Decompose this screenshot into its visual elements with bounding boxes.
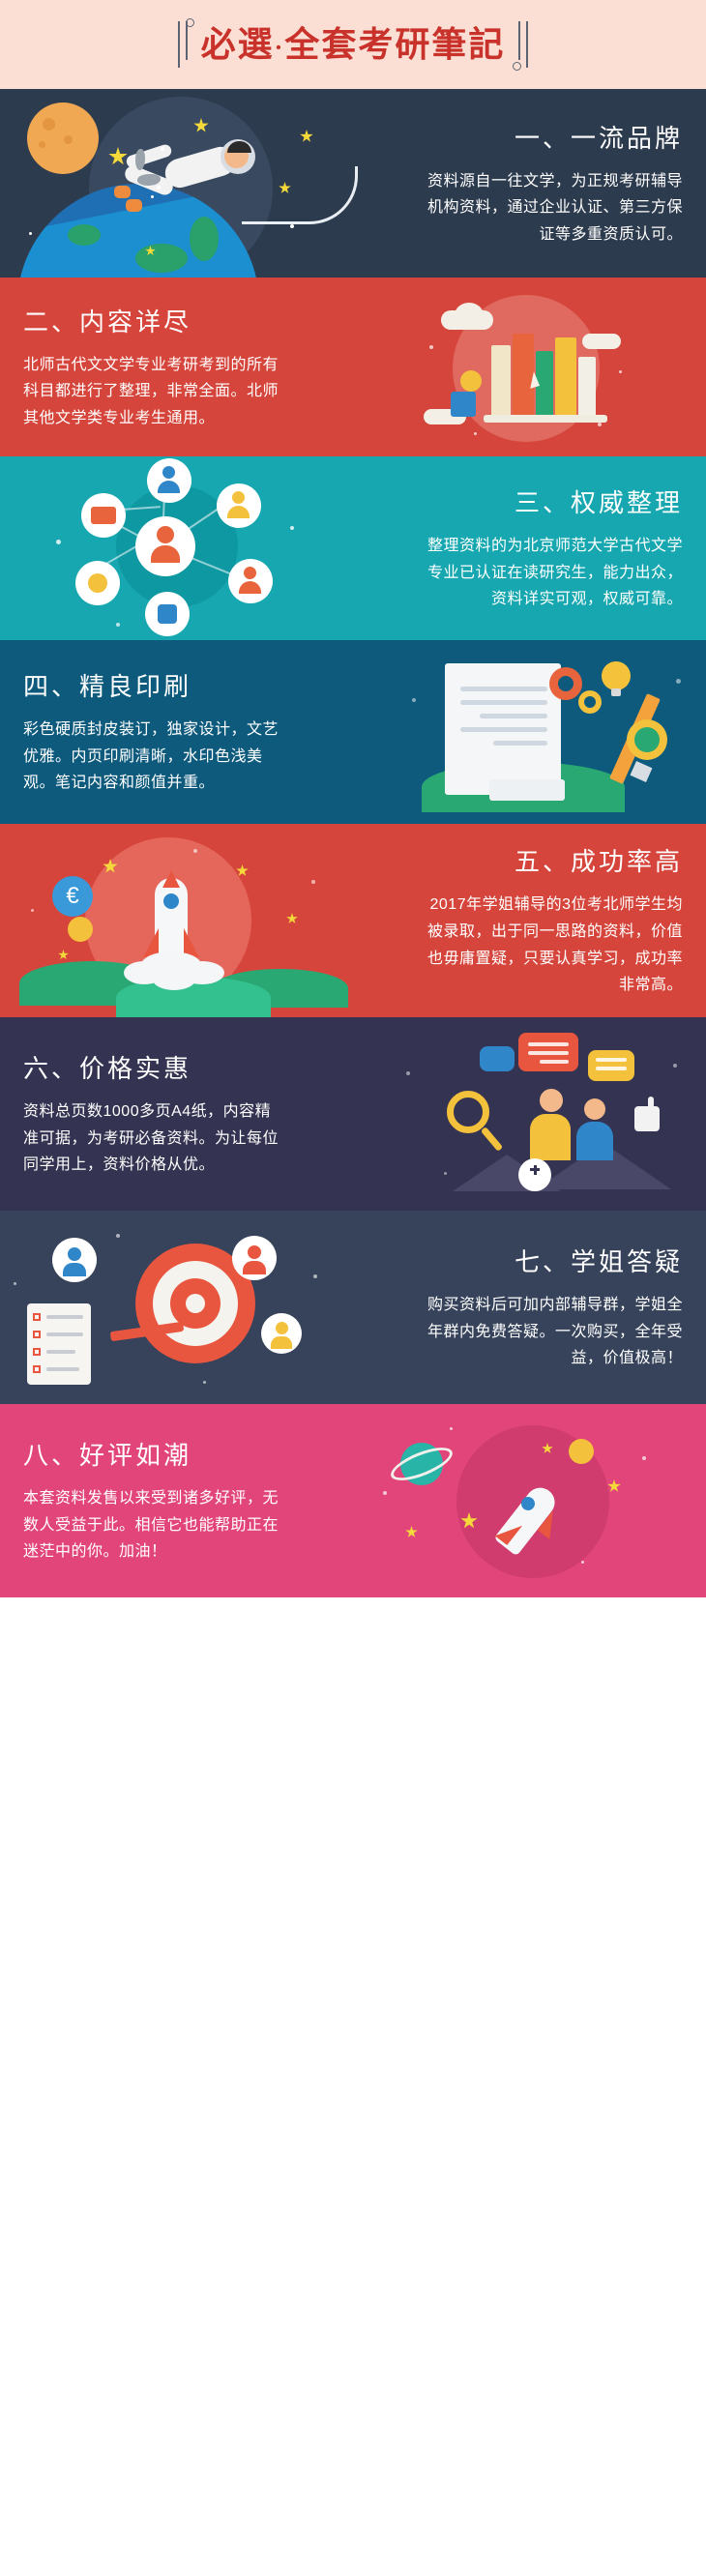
header-left-decoration xyxy=(178,21,188,68)
section-3-content: 三、权威整理 整理资料的为北京师范大学古代文学专业已认证在读研究生，能力出众，资… xyxy=(393,456,683,640)
section-3-body: 整理资料的为北京师范大学古代文学专业已认证在读研究生，能力出众，资料详实可观，权… xyxy=(422,533,683,613)
books-shelf-illustration xyxy=(329,278,706,456)
section-6: 六、价格实惠 资料总页数1000多页A4纸，内容精准可据，为考研必备资料。为让每… xyxy=(0,1017,706,1211)
section-7-title: 七、学姐答疑 xyxy=(515,1243,683,1278)
deco-bar xyxy=(526,21,528,68)
section-8-title: 八、好评如潮 xyxy=(23,1436,191,1472)
deco-bar xyxy=(178,21,180,68)
section-3: 三、权威整理 整理资料的为北京师范大学古代文学专业已认证在读研究生，能力出众，资… xyxy=(0,456,706,640)
section-5-title: 五、成功率高 xyxy=(515,842,683,878)
deco-bar xyxy=(518,21,520,60)
section-2-content: 二、内容详尽 北师古代文文学专业考研考到的所有科目都进行了整理，非常全面。北师其… xyxy=(23,278,313,456)
section-2-body: 北师古代文文学专业考研考到的所有科目都进行了整理，非常全面。北师其他文学类专业考… xyxy=(23,352,284,432)
deco-ring-icon xyxy=(513,62,521,71)
section-6-title: 六、价格实惠 xyxy=(23,1049,191,1085)
section-7-body: 购买资料后可加内部辅导群，学姐全年群内免费答疑。一次购买，全年受益，价值极高！ xyxy=(422,1292,683,1372)
section-8: 八、好评如潮 本套资料发售以来受到诸多好评，无数人受益于此。相信它也能帮助正在迷… xyxy=(0,1404,706,1597)
rocket-space-illustration xyxy=(329,1404,706,1597)
astronaut-earth-illustration xyxy=(0,89,377,278)
section-8-body: 本套资料发售以来受到诸多好评，无数人受益于此。相信它也能帮助正在迷茫中的你。加油… xyxy=(23,1485,284,1566)
section-4-title: 四、精良印刷 xyxy=(23,667,191,703)
social-network-illustration xyxy=(0,456,377,640)
header-inner: 必選·全套考研筆記 xyxy=(178,21,529,68)
section-3-title: 三、权威整理 xyxy=(515,483,683,519)
header-right-decoration xyxy=(518,21,528,68)
section-7-content: 七、学姐答疑 购买资料后可加内部辅导群，学姐全年群内免费答疑。一次购买，全年受益… xyxy=(393,1211,683,1404)
section-4: 四、精良印刷 彩色硬质封皮装订，独家设计，文艺优雅。内页印刷清晰，水印色浅美观。… xyxy=(0,640,706,824)
target-team-illustration xyxy=(0,1211,377,1404)
page-header: 必選·全套考研筆記 xyxy=(0,0,706,89)
section-7: 七、学姐答疑 购买资料后可加内部辅导群，学姐全年群内免费答疑。一次购买，全年受益… xyxy=(0,1211,706,1404)
document-editing-illustration xyxy=(329,640,706,824)
section-1-content: 一、一流品牌 资料源自一往文学，为正规考研辅导机构资料，通过企业认证、第三方保证… xyxy=(393,89,683,278)
section-1-body: 资料源自一往文学，为正规考研辅导机构资料，通过企业认证、第三方保证等多重资质认可… xyxy=(422,168,683,249)
section-6-body: 资料总页数1000多页A4纸，内容精准可据，为考研必备资料。为让每位同学用上，资… xyxy=(23,1098,284,1179)
rocket-launch-illustration: € xyxy=(0,824,377,1017)
deco-bar xyxy=(186,21,188,60)
infographic-page: 必選·全套考研筆記 xyxy=(0,0,706,1597)
page-title-dot: · xyxy=(275,34,285,62)
section-5-content: 五、成功率高 2017年学姐辅导的3位考北师学生均被录取，出于同一思路的资料，价… xyxy=(393,824,683,1017)
page-title-rest: 全套考研筆記 xyxy=(284,25,505,64)
section-5-body: 2017年学姐辅导的3位考北师学生均被录取，出于同一思路的资料，价值也毋庸置疑，… xyxy=(422,892,683,998)
section-8-content: 八、好评如潮 本套资料发售以来受到诸多好评，无数人受益于此。相信它也能帮助正在迷… xyxy=(23,1404,313,1597)
section-4-body: 彩色硬质封皮装订，独家设计，文艺优雅。内页印刷清晰，水印色浅美观。笔记内容和颜值… xyxy=(23,717,284,797)
section-1-title: 一、一流品牌 xyxy=(515,119,683,155)
section-2: 二、内容详尽 北师古代文文学专业考研考到的所有科目都进行了整理，非常全面。北师其… xyxy=(0,278,706,456)
section-4-content: 四、精良印刷 彩色硬质封皮装订，独家设计，文艺优雅。内页印刷清晰，水印色浅美观。… xyxy=(23,640,313,824)
page-title-main: 必選 xyxy=(201,25,275,64)
section-5: € 五、成功率高 2017年学姐辅导的3位考北师学生均被录取，出于同一思路的资料… xyxy=(0,824,706,1017)
section-1: 一、一流品牌 资料源自一往文学，为正规考研辅导机构资料，通过企业认证、第三方保证… xyxy=(0,89,706,278)
discussion-search-illustration xyxy=(329,1017,706,1211)
section-6-content: 六、价格实惠 资料总页数1000多页A4纸，内容精准可据，为考研必备资料。为让每… xyxy=(23,1017,313,1211)
section-2-title: 二、内容详尽 xyxy=(23,303,191,338)
deco-ring-icon xyxy=(186,18,194,27)
page-title: 必選·全套考研筆記 xyxy=(201,27,506,62)
